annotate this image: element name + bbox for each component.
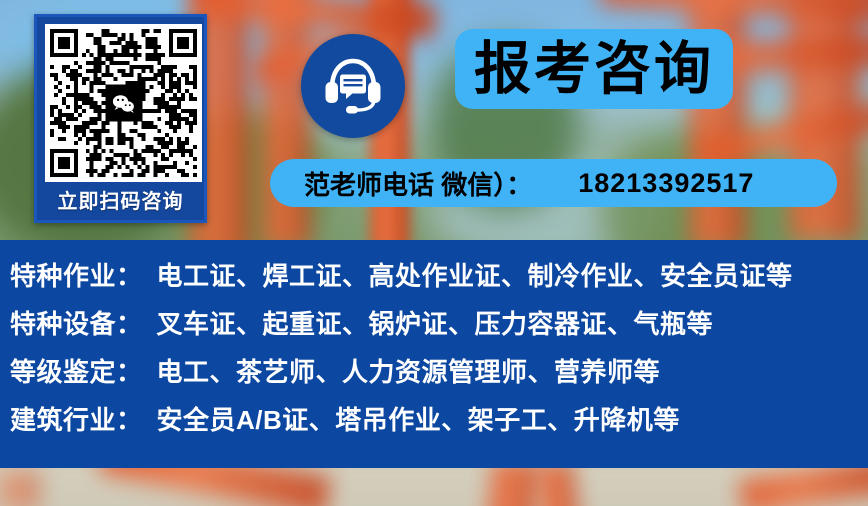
qr-code-frame (45, 24, 202, 182)
contact-label: 范老师电话 微信）： (304, 165, 532, 202)
info-row-value: 叉车证、起重证、锅炉证、压力容器证、气瓶等 (157, 304, 714, 341)
info-row-label: 特种作业： (10, 256, 143, 293)
info-row-grade-assessment: 等级鉴定： 电工、茶艺师、人力资源管理师、营养师等 (10, 352, 868, 400)
services-info-panel: 特种作业： 电工证、焊工证、高处作业证、制冷作业、安全员证等 特种设备： 叉车证… (0, 240, 868, 468)
info-row-label: 特种设备： (10, 304, 143, 341)
contact-banner[interactable]: 范老师电话 微信）： 18213392517 (270, 159, 837, 207)
info-row-value: 电工证、焊工证、高处作业证、制冷作业、安全员证等 (157, 256, 793, 293)
advertisement-poster: 立即扫码咨询 报考咨询 范老师电话 微信）： 18213392517 (0, 0, 868, 506)
info-row-label: 建筑行业： (10, 400, 143, 437)
qr-card-caption: 立即扫码咨询 (37, 185, 204, 214)
page-title: 报考咨询 (474, 41, 714, 98)
info-row-special-equipment: 特种设备： 叉车证、起重证、锅炉证、压力容器证、气瓶等 (10, 304, 868, 352)
wechat-icon (105, 85, 142, 122)
contact-phone-number[interactable]: 18213392517 (578, 168, 754, 199)
info-row-special-operations: 特种作业： 电工证、焊工证、高处作业证、制冷作业、安全员证等 (10, 256, 868, 304)
info-row-label: 等级鉴定： (10, 352, 143, 389)
qr-code-icon[interactable] (50, 29, 197, 177)
qr-code-card[interactable]: 立即扫码咨询 (34, 14, 207, 223)
info-row-construction-industry: 建筑行业： 安全员A/B证、塔吊作业、架子工、升降机等 (10, 400, 868, 448)
headset-support-icon (301, 34, 405, 138)
headline-banner: 报考咨询 (455, 29, 733, 109)
info-row-value: 安全员A/B证、塔吊作业、架子工、升降机等 (157, 400, 680, 437)
info-row-value: 电工、茶艺师、人力资源管理师、营养师等 (157, 352, 661, 389)
